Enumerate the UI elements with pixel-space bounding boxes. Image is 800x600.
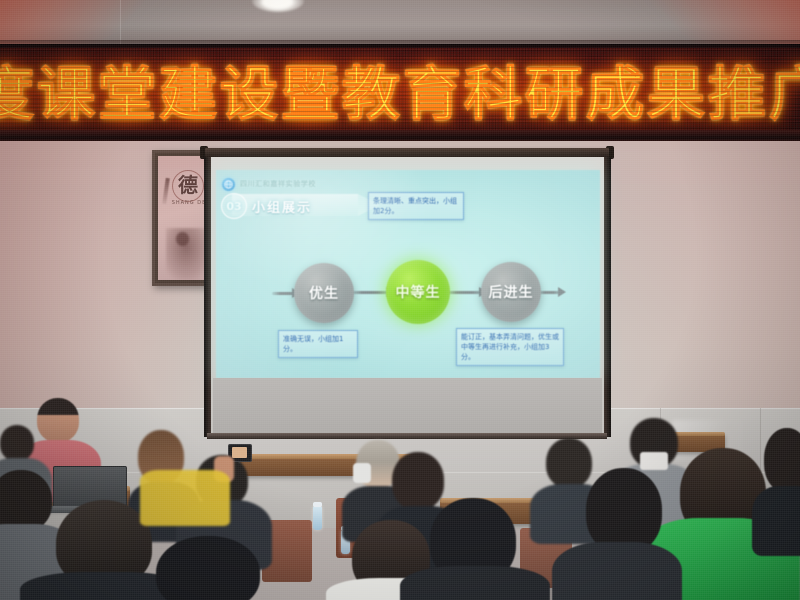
slide-section-ribbon: 03 小组展示 [220,194,382,216]
screen-bottom-bar [207,433,607,439]
presenter-head [37,398,79,442]
screen-top-bar [205,148,609,157]
callout-right: 能订正，基本弄清问题，优生或中等生再进行补充，小组加3分。 [456,328,564,366]
face-mask-icon [353,463,371,483]
screen-blank-area [213,378,602,436]
shirt-collar [640,452,668,470]
flow-connector [350,291,390,294]
screen-frame-left [204,157,211,437]
screen-frame-right [604,157,611,437]
callout-left: 准确无误，小组加1分。 [278,330,358,358]
slide-section-number: 03 [221,193,247,219]
flow-node-struggling: 后进生 [481,262,541,322]
led-banner-board: 度课堂建设暨教育科研成果推广 [0,48,800,132]
callout-top: 条理清晰、重点突出，小组加2分。 [368,192,464,220]
artwork-figure-head [176,232,189,246]
flow-connector [444,291,484,294]
artwork-character: 德 [174,169,202,201]
globe-icon [222,178,235,191]
conference-room-photo: 度课堂建设暨教育科研成果推广 德 SHANG DE [0,0,800,600]
flow-node-average: 中等生 [386,260,450,324]
led-banner-text: 度课堂建设暨教育科研成果推广 [0,54,800,124]
flow-connector [538,291,560,294]
slide-school-name: 四川汇和嘉祥实验学校 [240,179,316,189]
bottle-cap [313,502,322,507]
projected-slide: 四川汇和嘉祥实验学校 03 小组展示 优生 中等生 后进生 条理清晰、重点突出，… [216,170,600,378]
arrow-head-icon [558,287,566,297]
flow-node-excellent: 优生 [294,263,354,323]
slide-section-title: 小组展示 [252,197,312,216]
water-bottle [313,506,322,530]
slide-logo: 四川汇和嘉祥实验学校 [222,177,316,191]
